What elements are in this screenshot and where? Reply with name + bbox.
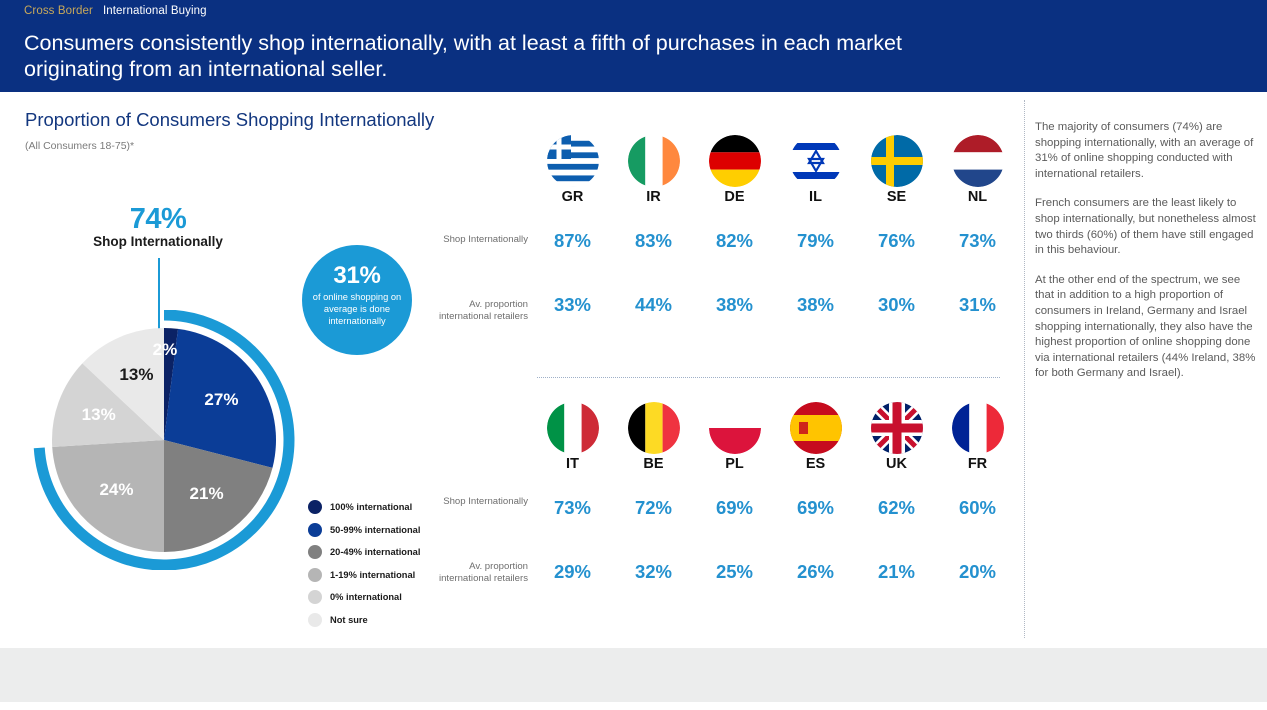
pie-slice-label: 2% [153, 340, 178, 360]
country-code-label: IR [613, 189, 694, 205]
netherlands-flag [952, 135, 1004, 187]
country-code-label: NL [937, 189, 1018, 205]
pie-slice-label: 13% [82, 405, 116, 425]
footer-bottom-strip [0, 702, 1267, 710]
country-cell: PL69%25% [694, 402, 775, 583]
legend-item: 0% international [308, 586, 438, 609]
spain-flag [790, 402, 842, 454]
commentary-paragraph: At the other end of the spectrum, we see… [1035, 273, 1257, 382]
slide-footer: Q33. What proportion of your online shop… [0, 648, 1267, 702]
country-cell: ES69%26% [775, 402, 856, 583]
av-proportion-value: 26% [775, 561, 856, 583]
commentary-panel: The majority of consumers (74%) are shop… [1035, 120, 1257, 396]
country-code-label: IL [775, 189, 856, 205]
legend-color-swatch [308, 590, 322, 604]
country-code-label: BE [613, 456, 694, 472]
shop-internationally-value: 69% [775, 497, 856, 519]
country-code-label: DE [694, 189, 775, 205]
average-proportion-bubble: 31% of online shopping on average is don… [302, 245, 412, 355]
belgium-flag [628, 402, 680, 454]
av-proportion-value: 20% [937, 561, 1018, 583]
av-proportion-value: 38% [775, 294, 856, 316]
country-cell: UK62%21% [856, 402, 937, 583]
country-cell: GR87%33% [532, 135, 613, 316]
shop-internationally-value: 79% [775, 230, 856, 252]
callout-value: 74% [92, 203, 224, 236]
shop-internationally-value: 76% [856, 230, 937, 252]
legend-color-swatch [308, 500, 322, 514]
country-cell: NL73%31% [937, 135, 1018, 316]
av-proportion-value: 44% [613, 294, 694, 316]
legend-label: 20-49% international [330, 547, 420, 557]
av-proportion-value: 21% [856, 561, 937, 583]
av-proportion-value: 30% [856, 294, 937, 316]
legend-label: 1-19% international [330, 570, 415, 580]
legend-label: 0% international [330, 592, 402, 602]
av-proportion-value: 31% [937, 294, 1018, 316]
shop-internationally-value: 72% [613, 497, 694, 519]
france-flag [952, 402, 1004, 454]
breadcrumb: Cross BorderInternational Buying [24, 5, 207, 17]
horizontal-divider [537, 377, 1000, 378]
legend-color-swatch [308, 568, 322, 582]
pie-slice-label: 13% [119, 365, 153, 385]
poland-flag [709, 402, 761, 454]
country-cell: IT73%29% [532, 402, 613, 583]
country-cell: FR60%20% [937, 402, 1018, 583]
row-label-shop-internationally-bottom: Shop Internationally [418, 496, 528, 508]
bubble-text: of online shopping on average is done in… [302, 290, 412, 327]
page-title: Consumers consistently shop internationa… [24, 30, 984, 82]
country-cell: SE76%30% [856, 135, 937, 316]
country-code-label: SE [856, 189, 937, 205]
shop-internationally-value: 83% [613, 230, 694, 252]
ireland-flag [628, 135, 680, 187]
country-code-label: GR [532, 189, 613, 205]
vertical-divider [1024, 100, 1025, 638]
slide-header: Cross BorderInternational Buying Consume… [0, 0, 1267, 92]
pie-slice-label: 27% [204, 390, 238, 410]
germany-flag [709, 135, 761, 187]
country-cell: BE72%32% [613, 402, 694, 583]
legend-color-swatch [308, 523, 322, 537]
av-proportion-value: 32% [613, 561, 694, 583]
shop-internationally-value: 82% [694, 230, 775, 252]
country-code-label: ES [775, 456, 856, 472]
country-cell: IR83%44% [613, 135, 694, 316]
shop-internationally-value: 73% [937, 230, 1018, 252]
greece-flag [547, 135, 599, 187]
sweden-flag [871, 135, 923, 187]
av-proportion-value: 38% [694, 294, 775, 316]
country-cell: DE82%38% [694, 135, 775, 316]
country-code-label: UK [856, 456, 937, 472]
row-label-av-proportion-bottom: Av. proportion international retailers [418, 561, 528, 586]
section-subtitle: (All Consumers 18-75)* [25, 140, 134, 152]
country-grid-row-1: GR87%33%IR83%44%DE82%38%IL79%38%SE76%30%… [532, 135, 1018, 316]
legend-item: Not sure [308, 609, 438, 632]
av-proportion-value: 33% [532, 294, 613, 316]
row-label-shop-internationally-top: Shop Internationally [418, 234, 528, 246]
commentary-paragraph: French consumers are the least likely to… [1035, 196, 1257, 258]
pie-chart: 2%27%21%24%13%13% [18, 310, 310, 570]
country-code-label: PL [694, 456, 775, 472]
breadcrumb-secondary: International Buying [103, 5, 207, 17]
pie-slice-label: 24% [99, 480, 133, 500]
legend-color-swatch [308, 545, 322, 559]
shop-internationally-value: 73% [532, 497, 613, 519]
country-code-label: FR [937, 456, 1018, 472]
row-label-av-proportion-top: Av. proportion international retailers [418, 299, 528, 324]
italy-flag [547, 402, 599, 454]
bubble-value: 31% [302, 262, 412, 290]
shop-internationally-value: 87% [532, 230, 613, 252]
legend-label: Not sure [330, 615, 368, 625]
israel-flag [790, 135, 842, 187]
breadcrumb-primary: Cross Border [24, 5, 93, 17]
legend-label: 50-99% international [330, 525, 420, 535]
country-code-label: IT [532, 456, 613, 472]
shop-internationally-value: 60% [937, 497, 1018, 519]
country-grid-row-2: IT73%29%BE72%32%PL69%25%ES69%26%UK62%21%… [532, 402, 1018, 583]
pie-slice-label: 21% [190, 484, 224, 504]
legend-color-swatch [308, 613, 322, 627]
uk-flag [871, 402, 923, 454]
av-proportion-value: 29% [532, 561, 613, 583]
legend-item: 50-99% international [308, 519, 438, 542]
shop-internationally-value: 62% [856, 497, 937, 519]
commentary-paragraph: The majority of consumers (74%) are shop… [1035, 120, 1257, 182]
country-cell: IL79%38% [775, 135, 856, 316]
shop-internationally-value: 69% [694, 497, 775, 519]
av-proportion-value: 25% [694, 561, 775, 583]
legend-label: 100% international [330, 502, 412, 512]
section-title: Proportion of Consumers Shopping Interna… [25, 109, 434, 131]
slide: Cross BorderInternational Buying Consume… [0, 0, 1267, 710]
callout-label: Shop Internationally [62, 234, 254, 249]
